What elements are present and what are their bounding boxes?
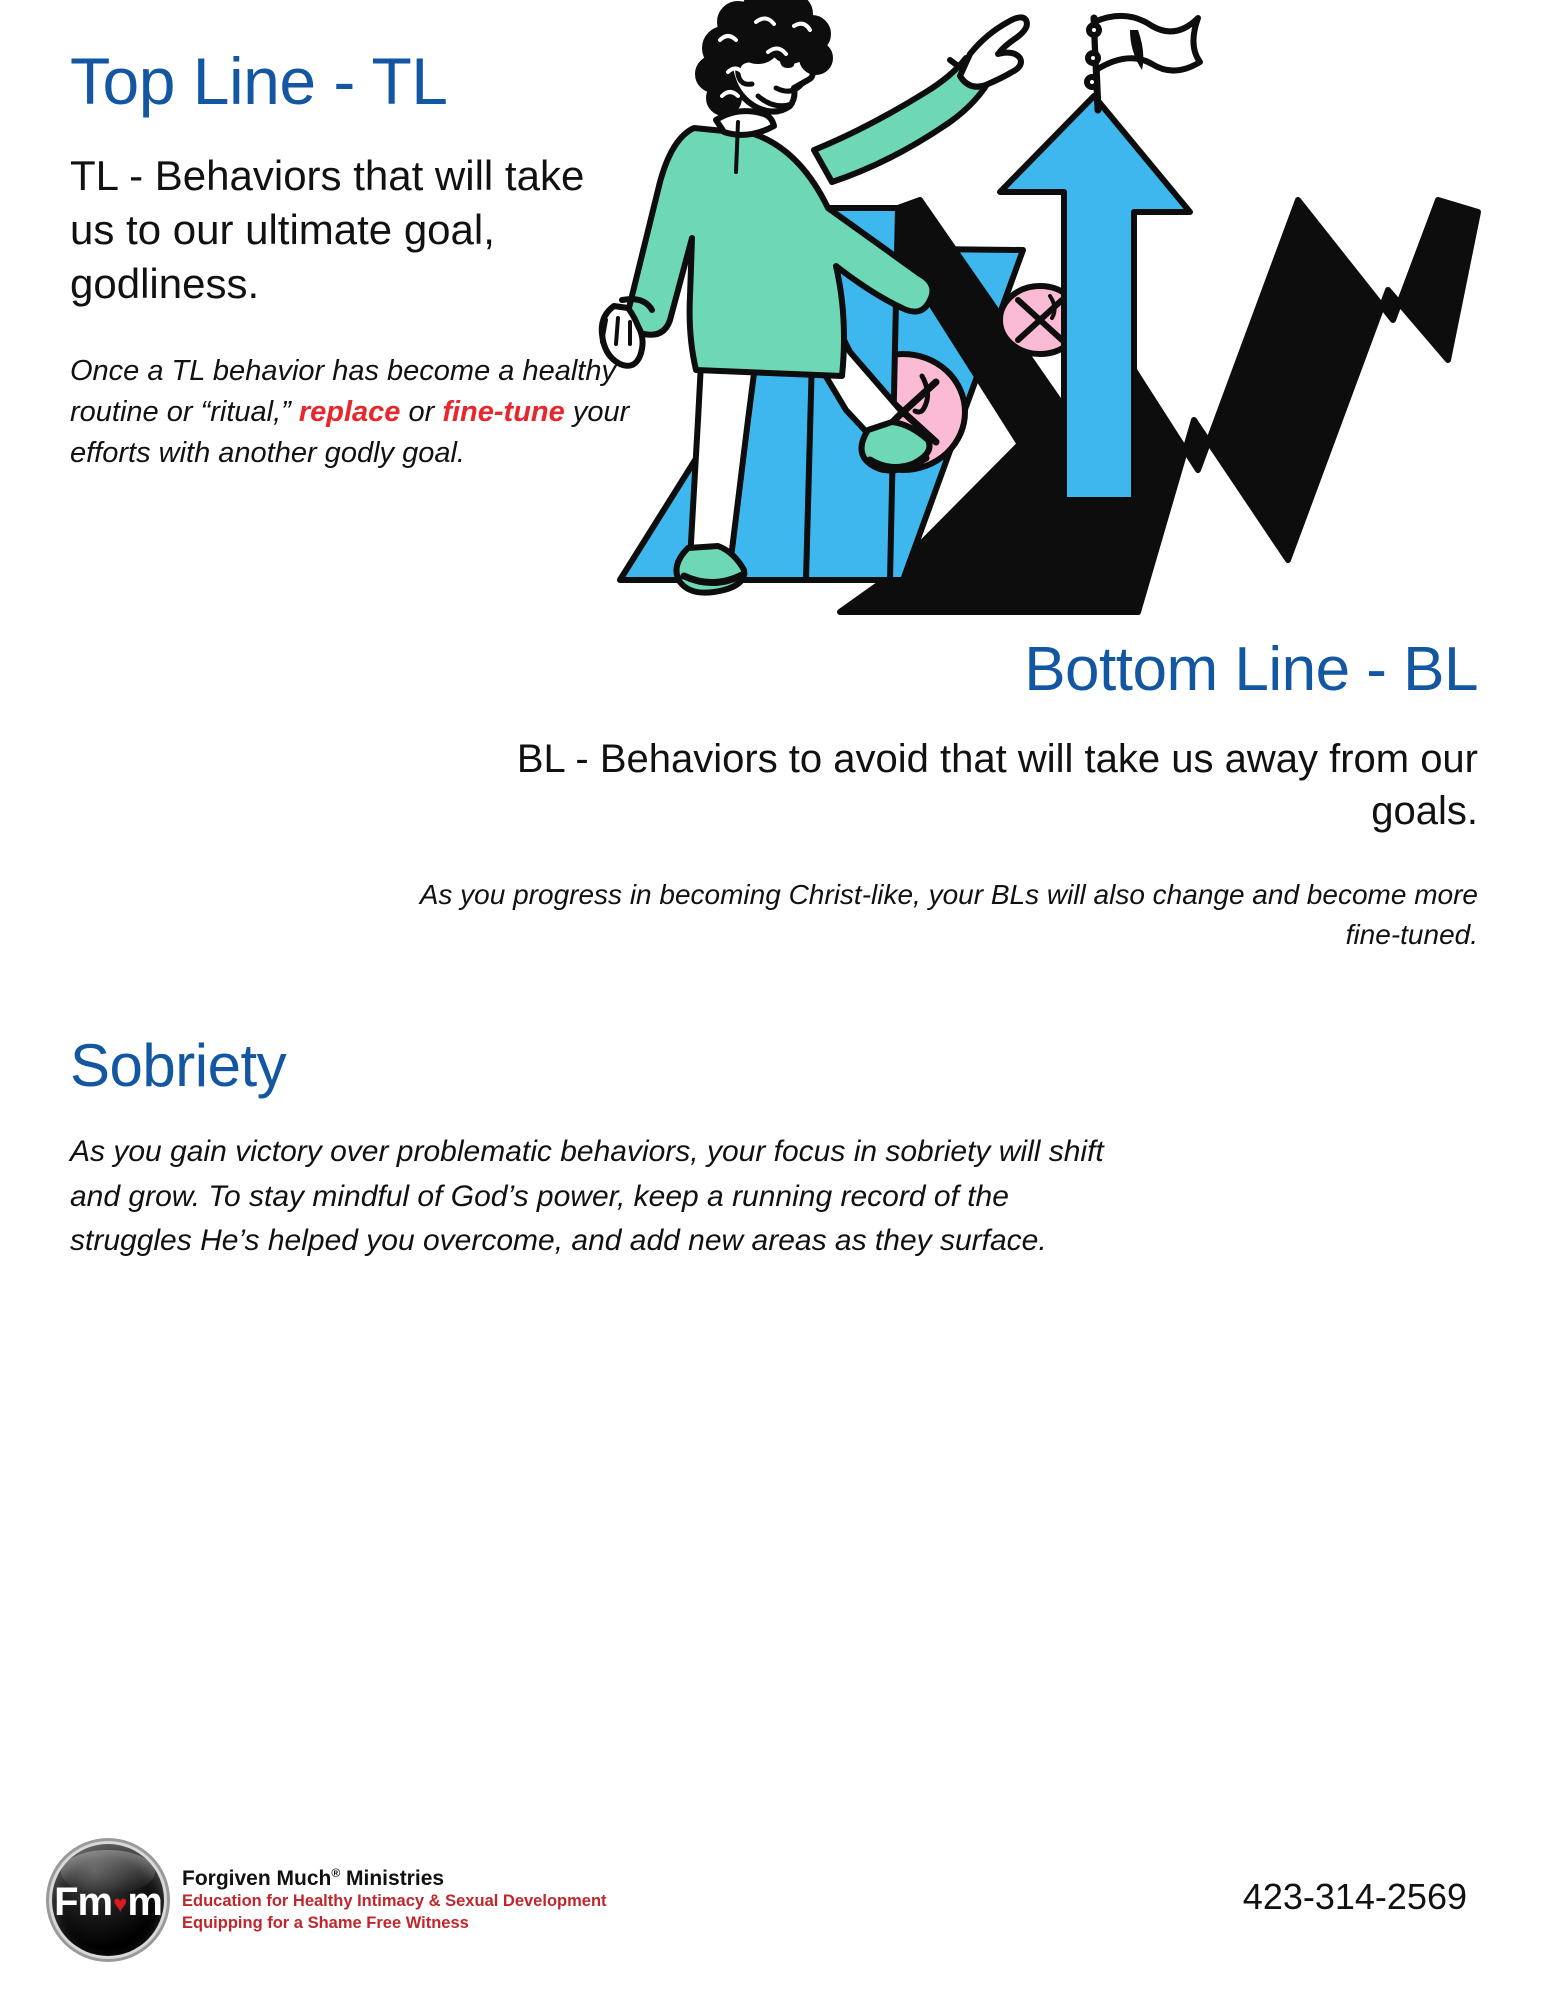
sobriety-section: Sobriety As you gain victory over proble… bbox=[70, 1035, 1110, 1263]
fmm-logo-wordmark: Fm♥m bbox=[54, 1880, 162, 1925]
top-line-note-part2: or bbox=[400, 396, 442, 428]
organization-text-block: Forgiven Much® Ministries Education for … bbox=[182, 1866, 607, 1935]
top-line-lead-text: TL - Behaviors that will take us to our … bbox=[70, 149, 630, 310]
fmm-logo-letters-left: Fm bbox=[54, 1880, 112, 1925]
top-line-heading: Top Line - TL bbox=[70, 48, 630, 115]
top-line-note: Once a TL behavior has become a healthy … bbox=[70, 351, 630, 475]
sobriety-heading: Sobriety bbox=[70, 1035, 1110, 1096]
organization-tagline-2: Equipping for a Shame Free Witness bbox=[182, 1913, 607, 1934]
fmm-logo-letters-right: m bbox=[127, 1880, 162, 1925]
organization-logo-block: Fm♥m Forgiven Much® Ministries Education… bbox=[52, 1844, 607, 1956]
organization-name: Forgiven Much® Ministries bbox=[182, 1866, 607, 1892]
bottom-line-heading: Bottom Line - BL bbox=[400, 638, 1478, 701]
goal-flag bbox=[1094, 16, 1200, 71]
organization-name-main: Forgiven Much bbox=[182, 1867, 331, 1890]
bottom-line-lead-text: BL - Behaviors to avoid that will take u… bbox=[400, 733, 1478, 837]
sobriety-note: As you gain victory over problematic beh… bbox=[70, 1130, 1110, 1263]
pointing-hand bbox=[960, 17, 1027, 86]
registered-trademark-icon: ® bbox=[331, 1866, 340, 1880]
contact-phone-number: 423-314-2569 bbox=[1243, 1876, 1467, 1918]
poster-page: Top Line - TL TL - Behaviors that will t… bbox=[0, 0, 1545, 2000]
footer: Fm♥m Forgiven Much® Ministries Education… bbox=[0, 1840, 1545, 1970]
heart-icon: ♥ bbox=[113, 1893, 126, 1917]
bottom-line-note: As you progress in becoming Christ-like,… bbox=[400, 875, 1478, 955]
organization-name-tail: Ministries bbox=[340, 1867, 444, 1890]
top-line-note-emphasis-finetune: fine-tune bbox=[442, 396, 564, 428]
bottom-line-section: Bottom Line - BL BL - Behaviors to avoid… bbox=[400, 638, 1478, 955]
top-line-section: Top Line - TL TL - Behaviors that will t… bbox=[70, 48, 630, 474]
illustration-person-pointing-up-on-rising-arrow bbox=[598, 0, 1545, 640]
organization-tagline-1: Education for Healthy Intimacy & Sexual … bbox=[182, 1891, 607, 1912]
top-line-note-emphasis-replace: replace bbox=[299, 396, 401, 428]
fmm-logo-icon: Fm♥m bbox=[52, 1844, 164, 1956]
